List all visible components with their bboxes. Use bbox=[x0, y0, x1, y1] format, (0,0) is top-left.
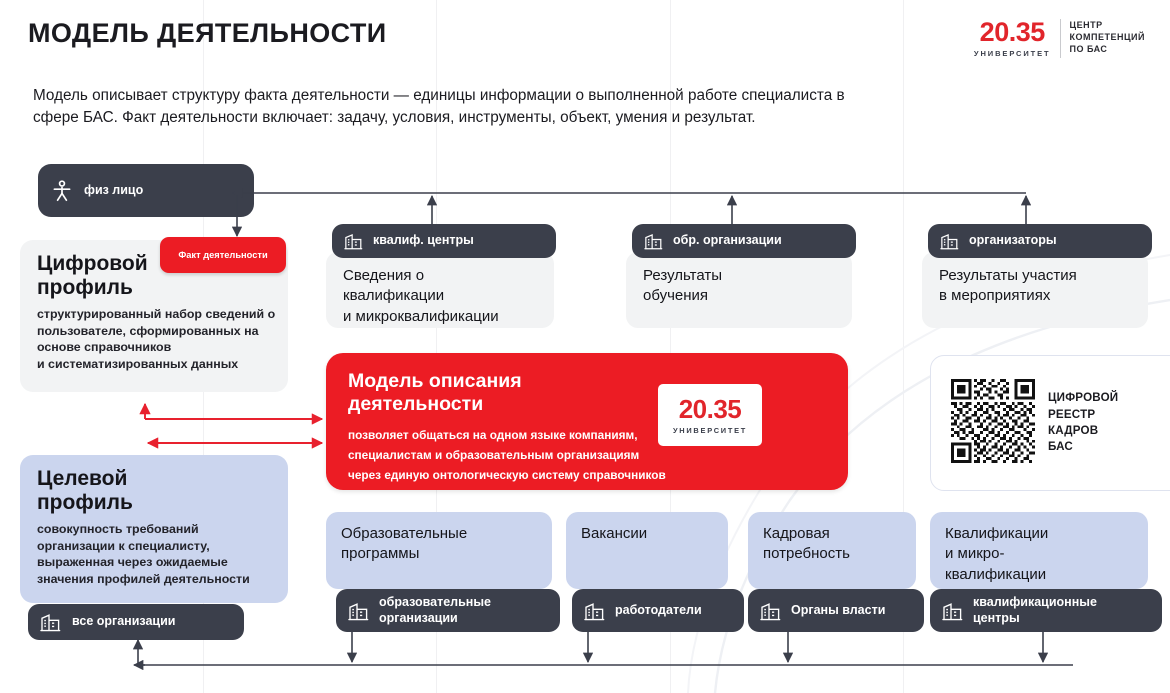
actor-government-box[interactable]: Органы власти bbox=[748, 589, 924, 632]
activity-model-logo-subtitle: УНИВЕРСИТЕТ bbox=[673, 426, 747, 435]
actor-edu-organizations-box[interactable]: образовательные организации bbox=[336, 589, 560, 632]
person-icon bbox=[52, 180, 72, 202]
actor-organizers-box[interactable]: организаторы bbox=[928, 224, 1152, 258]
building-icon bbox=[940, 232, 959, 250]
target-profile-heading: Целевой профиль bbox=[37, 467, 278, 514]
logo-competence-center: ЦЕНТР КОМПЕТЕНЦИЙ ПО БАС bbox=[1070, 19, 1145, 56]
top-card-qualification-text: Сведения о квалификации и микроквалифика… bbox=[343, 266, 542, 327]
building-icon bbox=[40, 612, 61, 632]
bottom-card-qualifications-text: Квалификации и микро- квалификации bbox=[945, 524, 1138, 585]
actor-all-orgs-label: все организации bbox=[72, 614, 175, 629]
brand-logo: 20.35 УНИВЕРСИТЕТ ЦЕНТР КОМПЕТЕНЦИЙ ПО Б… bbox=[974, 19, 1145, 58]
building-icon bbox=[344, 232, 363, 250]
actor-qual-centers-box[interactable]: квалиф. центры bbox=[332, 224, 556, 258]
bottom-card-vacancies[interactable]: Вакансии bbox=[566, 512, 728, 589]
actor-person-box[interactable]: физ лицо bbox=[38, 164, 254, 217]
actor-person-label: физ лицо bbox=[84, 183, 143, 198]
fact-of-activity-badge[interactable]: Факт деятельности bbox=[160, 237, 286, 273]
top-card-event-results[interactable]: Результаты участия в мероприятиях bbox=[922, 252, 1148, 328]
building-icon bbox=[584, 601, 605, 621]
bottom-card-vacancies-text: Вакансии bbox=[581, 524, 718, 544]
actor-qualification-centers-box[interactable]: квалификационные центры bbox=[930, 589, 1162, 632]
bottom-card-edu-programs[interactable]: Образовательные программы bbox=[326, 512, 552, 589]
page-title: МОДЕЛЬ ДЕЯТЕЛЬНОСТИ bbox=[28, 18, 387, 49]
actor-qualification-centers-label: квалификационные центры bbox=[973, 595, 1097, 626]
logo-number: 20.35 bbox=[974, 19, 1051, 46]
bottom-card-staffing-need[interactable]: Кадровая потребность bbox=[748, 512, 916, 589]
qr-code-icon bbox=[951, 379, 1035, 468]
building-icon bbox=[760, 601, 781, 621]
bottom-card-staffing-need-text: Кадровая потребность bbox=[763, 524, 906, 565]
activity-model-heading: Модель описания деятельности bbox=[348, 370, 522, 417]
digital-profile-body: структурированный набор сведений о польз… bbox=[37, 306, 280, 373]
top-card-event-results-text: Результаты участия в мероприятиях bbox=[939, 266, 1136, 307]
top-card-learning-results-text: Результаты обучения bbox=[643, 266, 840, 307]
actor-edu-orgs-box[interactable]: обр. организации bbox=[632, 224, 856, 258]
bottom-card-edu-programs-text: Образовательные программы bbox=[341, 524, 542, 565]
logo-subtitle: УНИВЕРСИТЕТ bbox=[974, 49, 1051, 58]
top-card-learning-results[interactable]: Результаты обучения bbox=[626, 252, 852, 328]
target-profile-body: совокупность требований организации к сп… bbox=[37, 521, 280, 588]
activity-model-logo-number: 20.35 bbox=[679, 396, 742, 422]
actor-employers-box[interactable]: работодатели bbox=[572, 589, 744, 632]
building-icon bbox=[942, 601, 963, 621]
building-icon bbox=[644, 232, 663, 250]
logo-divider bbox=[1060, 19, 1061, 58]
building-icon bbox=[348, 601, 369, 621]
activity-model-body: позволяет общаться на одном языке компан… bbox=[348, 425, 678, 485]
actor-edu-orgs-label: обр. организации bbox=[673, 233, 782, 248]
activity-model-card[interactable]: Модель описания деятельности позволяет о… bbox=[326, 353, 848, 490]
activity-model-logo: 20.35 УНИВЕРСИТЕТ bbox=[658, 384, 762, 446]
actor-organizers-label: организаторы bbox=[969, 233, 1057, 248]
intro-paragraph: Модель описывает структуру факта деятель… bbox=[33, 85, 1043, 129]
actor-qual-centers-label: квалиф. центры bbox=[373, 233, 474, 248]
qr-registry-label: ЦИФРОВОЙ РЕЕСТР КАДРОВ БАС bbox=[1048, 390, 1118, 456]
actor-employers-label: работодатели bbox=[615, 603, 702, 618]
bottom-card-qualifications[interactable]: Квалификации и микро- квалификации bbox=[930, 512, 1148, 589]
actor-edu-organizations-label: образовательные организации bbox=[379, 595, 491, 626]
actor-all-orgs-box[interactable]: все организации bbox=[28, 604, 244, 640]
qr-registry-panel[interactable]: ЦИФРОВОЙ РЕЕСТР КАДРОВ БАС bbox=[930, 355, 1170, 491]
target-profile-card[interactable]: Целевой профиль совокупность требований … bbox=[20, 455, 288, 603]
actor-government-label: Органы власти bbox=[791, 603, 885, 618]
top-card-qualification[interactable]: Сведения о квалификации и микроквалифика… bbox=[326, 252, 554, 328]
slide-root: МОДЕЛЬ ДЕЯТЕЛЬНОСТИ 20.35 УНИВЕРСИТЕТ ЦЕ… bbox=[0, 0, 1170, 693]
fact-of-activity-label: Факт деятельности bbox=[178, 250, 267, 260]
